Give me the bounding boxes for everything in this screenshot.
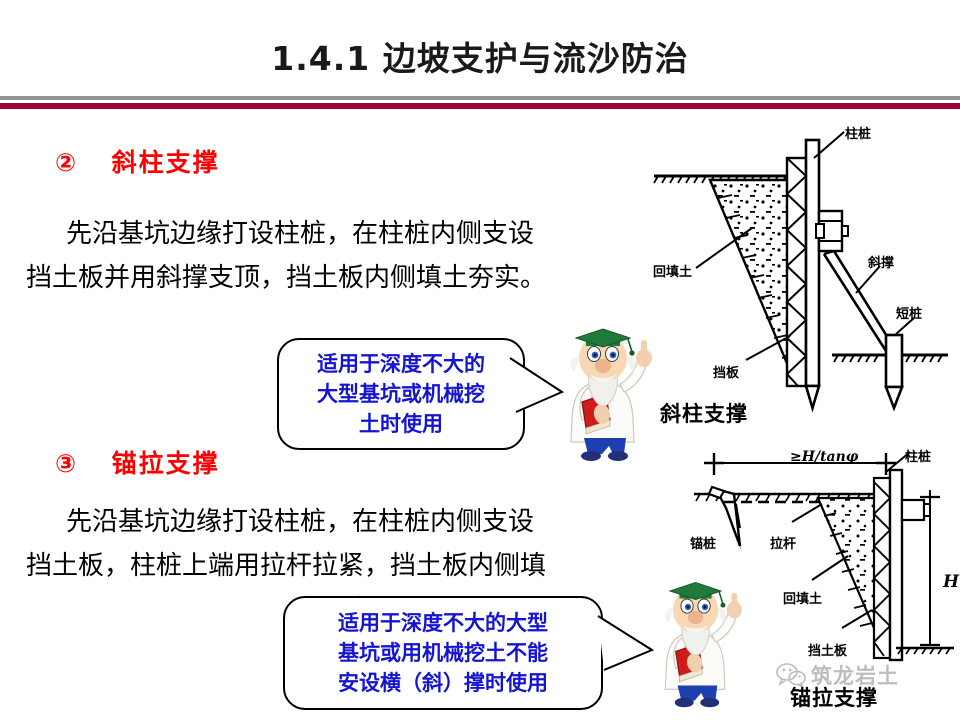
callout-2-tail: [588, 608, 668, 688]
diagram1-caption: 斜柱支撑: [660, 398, 748, 428]
callout-1-text: 适用于深度不大的 大型基坑或机械挖 土时使用: [279, 340, 523, 439]
diagram2-dimension-label: ≥H/tanφ: [790, 449, 858, 465]
callout-line: 适用于深度不大的大型: [285, 608, 601, 638]
callout-line: 土时使用: [279, 409, 523, 439]
diagram1-label-huitiantu: 回填土: [653, 261, 692, 280]
slide-canvas: 1.4.1 边坡支护与流沙防治 ② 斜柱支撑 先沿基坑边缘打设柱桩，在柱桩内侧支…: [0, 0, 960, 720]
diagram1-label-duanzhuang: 短桩: [896, 303, 922, 322]
diagram1-label-zhuzhuang: 柱桩: [845, 123, 871, 142]
diagram2-label-maozhuang: 锚桩: [690, 533, 716, 552]
diagram1-label-dangban: 挡板: [713, 362, 739, 381]
paragraph-line: 挡土板，柱桩上端用拉杆拉紧，挡土板内侧填: [26, 551, 546, 581]
page-title: 1.4.1 边坡支护与流沙防治: [0, 32, 960, 80]
section-marker-3: ③: [55, 449, 78, 478]
callout-1-tail: [500, 350, 580, 430]
callout-2-text: 适用于深度不大的大型 基坑或用机械挖土不能 安设横（斜）撑时使用: [285, 598, 601, 698]
watermark: 筑龙岩土: [776, 660, 899, 690]
section-title-3: 锚拉支撑: [112, 449, 220, 478]
diagram2-label-huitiantu: 回填土: [783, 588, 822, 607]
wechat-icon: [776, 663, 806, 687]
callout-line: 基坑或用机械挖土不能: [285, 638, 601, 668]
professor-mascot-icon: [653, 572, 757, 712]
section-heading-2: ② 斜柱支撑: [55, 143, 220, 179]
diagram1-label-xiecheng: 斜撑: [868, 252, 894, 271]
diagram2-label-dangtuban: 挡土板: [808, 640, 847, 659]
section-title-2: 斜柱支撑: [112, 148, 220, 177]
diagram2-label-lagan: 拉杆: [770, 533, 796, 552]
callout-box-1: 适用于深度不大的 大型基坑或机械挖 土时使用: [277, 338, 525, 450]
header-divider-gray: [0, 96, 960, 100]
section-heading-3: ③ 锚拉支撑: [55, 444, 220, 480]
callout-line: 大型基坑或机械挖: [279, 379, 523, 409]
paragraph-line: 挡土板并用斜撑支顶，挡土板内侧填土夯实。: [26, 263, 546, 293]
diagram2-label-zhuzhuang: 柱桩: [905, 446, 931, 465]
header-divider-red: [0, 103, 960, 109]
section-marker-2: ②: [55, 148, 78, 177]
callout-box-2: 适用于深度不大的大型 基坑或用机械挖土不能 安设横（斜）撑时使用: [283, 596, 603, 710]
callout-line: 适用于深度不大的: [279, 349, 523, 379]
section-2-paragraph: 先沿基坑边缘打设柱桩，在柱桩内侧支设 挡土板并用斜撑支顶，挡土板内侧填土夯实。: [26, 212, 546, 300]
watermark-text: 筑龙岩土: [811, 660, 899, 690]
paragraph-line: 先沿基坑边缘打设柱桩，在柱桩内侧支设: [66, 219, 534, 249]
diagram-inclined-strut: [648, 118, 960, 418]
callout-line: 安设横（斜）撑时使用: [285, 668, 601, 698]
diagram2-height-variable: H: [943, 572, 959, 592]
paragraph-line: 先沿基坑边缘打设柱桩，在柱桩内侧支设: [66, 507, 534, 537]
